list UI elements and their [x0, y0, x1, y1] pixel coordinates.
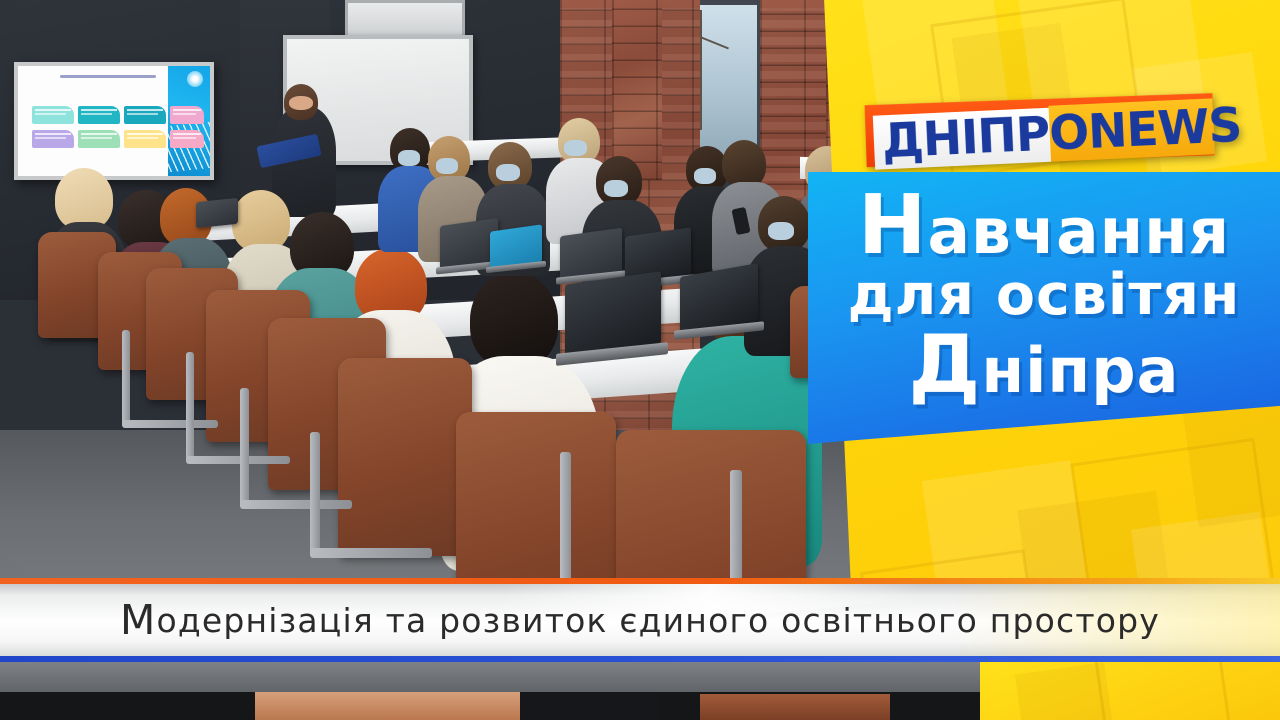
- chair-leg: [560, 452, 571, 582]
- below-ticker-strip: [0, 662, 1280, 720]
- headline-box: Навчання для освітян Дніпра: [808, 172, 1280, 444]
- ticker-rest: одернізація та розвиток єдиного освітньо…: [156, 601, 1160, 640]
- chair-leg: [186, 352, 194, 462]
- slide-logo-dot: [187, 71, 203, 87]
- slide-chip: [32, 106, 74, 124]
- slide-chip: [170, 130, 204, 148]
- tree-branch: [700, 10, 702, 130]
- slide-chip: [32, 130, 74, 148]
- headline-line3-capital: Д: [909, 318, 982, 412]
- face-mask: [604, 180, 628, 197]
- presenter-face: [289, 96, 313, 110]
- attendee-head: [232, 190, 290, 252]
- headline-line1-capital: Н: [858, 178, 928, 273]
- chair-leg: [186, 456, 290, 464]
- dark-strip: [520, 692, 660, 720]
- brick-wall: [612, 0, 662, 180]
- chair-leg: [240, 500, 352, 509]
- chair-leg: [240, 388, 249, 506]
- projection-screen: [14, 62, 214, 180]
- floor-strip: [0, 662, 980, 694]
- face-mask: [694, 168, 716, 184]
- headline-line2: для освітян: [808, 268, 1280, 324]
- ticker-capital: М: [120, 596, 157, 644]
- news-ticker: Модернізація та розвиток єдиного освітнь…: [0, 578, 1280, 662]
- attendee-head: [722, 140, 766, 188]
- attendee-head: [55, 168, 113, 230]
- chair-leg: [122, 330, 130, 426]
- headline-line3-rest: ніпра: [981, 334, 1179, 407]
- slide-chip: [124, 130, 166, 148]
- ticker-text: Модернізація та розвиток єдиного освітнь…: [0, 584, 1280, 656]
- chair-leg: [310, 548, 432, 558]
- slide-chip: [170, 106, 204, 124]
- slide-chip: [124, 106, 166, 124]
- face-mask: [398, 150, 420, 166]
- chair-leg: [122, 420, 218, 428]
- face-mask: [436, 158, 458, 174]
- attendee-head: [470, 272, 558, 368]
- slide-chip: [78, 130, 120, 148]
- slide-title-bar: [60, 75, 156, 78]
- face-mask: [768, 222, 794, 240]
- chair-leg: [310, 432, 320, 554]
- headline-line1-rest: авчання: [927, 195, 1230, 268]
- logo-text-news: NEWS: [1087, 97, 1243, 162]
- yellow-strip: [980, 662, 1280, 720]
- slide-chip: [78, 106, 120, 124]
- chair-strip: [700, 694, 890, 720]
- broadcast-frame: ДНІПРОNEWS Навчання для освітян Дніпра М…: [0, 0, 1280, 720]
- logo-text-dnipro: ДНІПРО: [881, 104, 1090, 171]
- chair: [338, 358, 472, 556]
- whiteboard-top: [345, 0, 465, 40]
- headline-text: Навчання для освітян Дніпра: [808, 186, 1280, 405]
- face-mask: [496, 164, 520, 181]
- face-mask: [564, 140, 587, 156]
